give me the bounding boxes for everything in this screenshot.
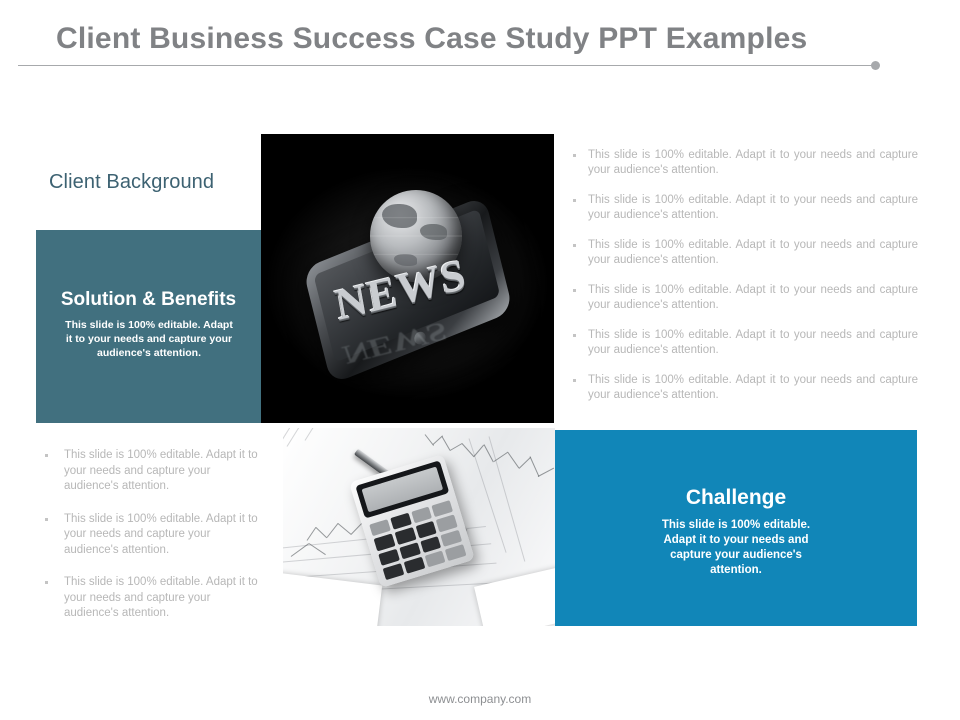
chart-series-segment <box>309 543 326 555</box>
list-item: This slide is 100% editable. Adapt it to… <box>570 148 918 178</box>
list-item: This slide is 100% editable. Adapt it to… <box>40 512 262 559</box>
calculator-key <box>445 544 467 561</box>
chart-series-segment <box>474 445 484 457</box>
chart-line <box>489 436 526 561</box>
calculator-key <box>403 557 425 574</box>
footer-url: www.company.com <box>0 692 960 706</box>
solution-benefits-panel: Solution & Benefits This slide is 100% e… <box>36 230 261 423</box>
calculator-key <box>374 534 396 551</box>
calculator-key <box>399 542 421 559</box>
calculator-key <box>415 521 437 538</box>
solution-benefits-body: This slide is 100% editable. Adapt it to… <box>64 318 234 360</box>
chart-series-segment <box>450 443 463 451</box>
paper-sheet <box>474 567 555 626</box>
chart-series-segment <box>307 527 317 541</box>
challenge-panel: Challenge This slide is 100% editable. A… <box>555 430 917 626</box>
challenge-heading: Challenge <box>555 486 917 510</box>
list-item: This slide is 100% editable. Adapt it to… <box>570 373 918 403</box>
calculator-key <box>420 536 442 553</box>
chart-line <box>283 428 353 455</box>
right-bullet-list: This slide is 100% editable. Adapt it to… <box>570 148 918 418</box>
chart-series-segment <box>530 456 540 477</box>
challenge-body: This slide is 100% editable. Adapt it to… <box>645 518 827 578</box>
left-bullet-list: This slide is 100% editable. Adapt it to… <box>40 448 262 639</box>
calculator-key <box>436 515 458 532</box>
chart-series-segment <box>494 452 509 462</box>
list-item: This slide is 100% editable. Adapt it to… <box>40 448 262 495</box>
title-divider-dot-icon <box>871 61 880 70</box>
calculator-key <box>378 548 400 565</box>
list-item: This slide is 100% editable. Adapt it to… <box>570 193 918 223</box>
list-item: This slide is 100% editable. Adapt it to… <box>570 283 918 313</box>
chart-series-segment <box>508 452 520 468</box>
list-item: This slide is 100% editable. Adapt it to… <box>570 238 918 268</box>
calculator-key <box>424 550 446 567</box>
calculator-key <box>383 563 405 580</box>
title-divider <box>18 65 876 66</box>
page-title: Client Business Success Case Study PPT E… <box>56 22 916 56</box>
slide-canvas: Client Business Success Case Study PPT E… <box>0 0 960 720</box>
chart-series-segment <box>327 523 339 538</box>
calculator-key <box>441 529 463 546</box>
chart-line <box>305 428 375 441</box>
smartphone-globe-news-image: NEWS NEWS <box>261 134 554 423</box>
chart-series-segment <box>519 457 531 469</box>
calculator-key <box>394 527 416 544</box>
chart-series-segment <box>338 523 352 535</box>
chart-line <box>287 428 362 447</box>
paper-sheet <box>283 571 382 626</box>
list-item: This slide is 100% editable. Adapt it to… <box>570 328 918 358</box>
chart-series-segment <box>538 468 554 477</box>
solution-benefits-heading: Solution & Benefits <box>36 289 261 311</box>
calculator-financial-charts-image <box>283 428 555 626</box>
client-background-heading: Client Background <box>49 171 264 194</box>
list-item: This slide is 100% editable. Adapt it to… <box>40 575 262 622</box>
chart-series-segment <box>442 436 451 450</box>
